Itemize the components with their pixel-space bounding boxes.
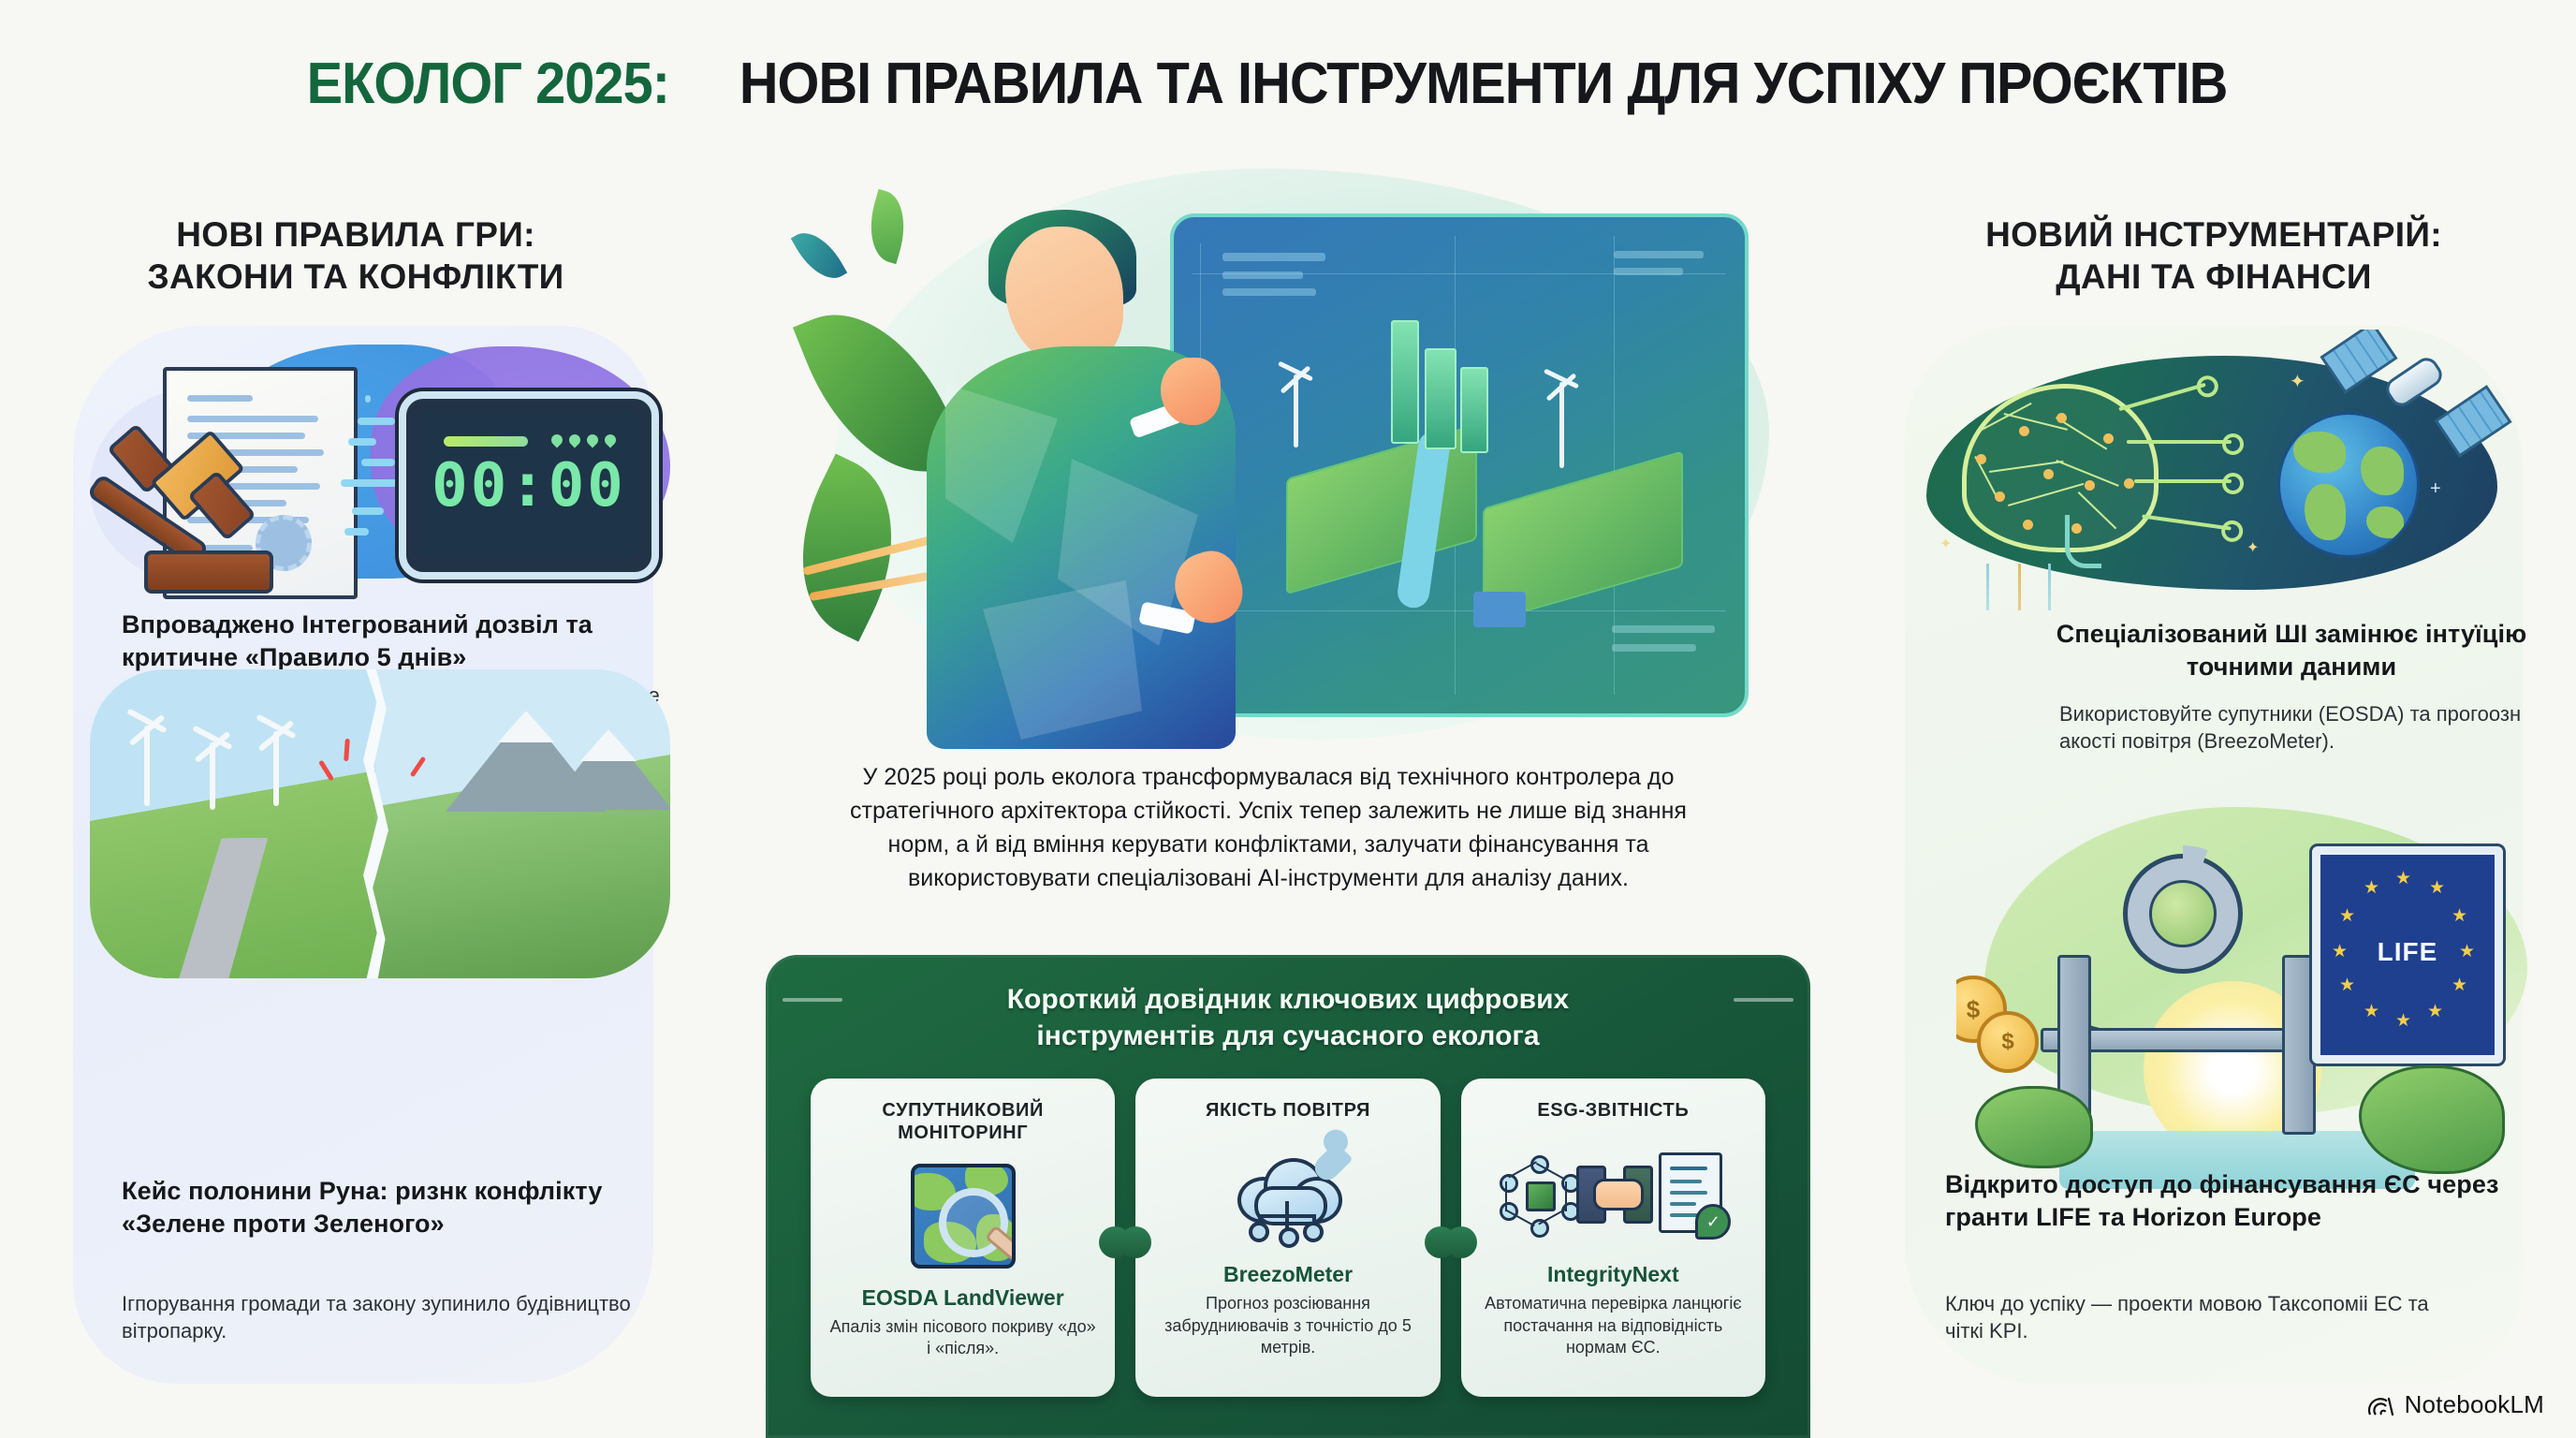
molecule-network-icon <box>1503 1159 1571 1226</box>
heart-icon <box>1319 1142 1354 1177</box>
downlink-line-2 <box>2018 564 2021 610</box>
gear-globe-core <box>2149 880 2217 947</box>
eu-life-flag-icon: ★ ★ ★ ★ ★ ★ ★ ★ ★ ★ ★ ★ LIFE <box>2312 846 2503 1064</box>
card-connector-left-2 <box>1445 1226 1477 1258</box>
star-icon-1: ✦ <box>2290 373 2305 391</box>
left-card-2-title: Кейс полонини Руна: ризнк конфлікту «Зел… <box>122 1175 608 1240</box>
screen-turbine-2 <box>1559 382 1564 468</box>
tool-card-3-kicker: ESG-ЗВІТНІСТЬ <box>1478 1099 1749 1122</box>
tool-card-row: СУПУТНИКОВИЙ МОНІТОРИНГ EOSDA LandViewer… <box>811 1078 1765 1397</box>
tool-card-1-name: EOSDA LandViewer <box>827 1285 1098 1311</box>
tool-card-esg-reporting[interactable]: ESG-ЗВІТНІСТЬ <box>1461 1078 1765 1397</box>
plus-icon: + <box>2430 479 2441 498</box>
eu-star: ★ <box>2429 879 2445 897</box>
wind-farm-landscape-crack-illustration <box>90 669 670 978</box>
cloud-sensor-icon <box>1152 1127 1423 1258</box>
person-hand-upper <box>1161 358 1221 425</box>
timer-indicator-dots <box>551 434 616 446</box>
left-card-2-subtitle: Ігпорування громади та закону зупинило б… <box>122 1290 646 1345</box>
tool-card-3-kicker-line-1: ESG-ЗВІТНІСТЬ <box>1478 1099 1749 1122</box>
circuit-line-2 <box>2127 440 2232 444</box>
supply-chain-handshake-document-icon: ✓ <box>1478 1127 1749 1258</box>
eu-star: ★ <box>2395 870 2411 888</box>
page-title: ЕКОЛОГ 2025: НОВІ ПРАВИЛА ТА ІНСТРУМЕНТИ… <box>0 51 2576 117</box>
left-card-1-title: Впроваджено Інтегрований дозвіл та крити… <box>122 609 665 674</box>
mountain-icon-2 <box>545 729 670 810</box>
handshake-palms <box>1593 1179 1644 1211</box>
star-icon-3: ✦ <box>1939 537 1952 552</box>
tool-card-1-desc: Апаліз змін пісового покриву «до» і «піс… <box>827 1316 1098 1360</box>
tool-card-2-name: BreezoMeter <box>1152 1262 1423 1287</box>
wind-turbine-icon-3 <box>273 731 279 806</box>
eu-star: ★ <box>2452 907 2467 925</box>
timer-value: 00:00 <box>432 451 626 521</box>
right-card-1-subtitle: Використовуйте супутники (EOSDA) та прог… <box>2059 700 2527 756</box>
downlink-line-3 <box>2048 564 2051 610</box>
eu-star: ★ <box>2452 976 2467 994</box>
tool-card-1-kicker: СУПУТНИКОВИЙ МОНІТОРИНГ <box>827 1099 1098 1145</box>
watermark-label: NotebookLM <box>2405 1390 2544 1419</box>
screen-turbine-1 <box>1294 374 1298 448</box>
right-card-1-title: Спеціалізований ШІ замінює інтуїцію точн… <box>2048 618 2535 683</box>
left-heading-line-2: ЗАКОНИ ТА КОНФЛІКТИ <box>56 256 655 298</box>
solar-panel-icon <box>1473 592 1526 627</box>
card-connector-left <box>1120 1226 1151 1258</box>
gavel-base <box>144 550 273 594</box>
tool-card-1-kicker-line-1: СУПУТНИКОВИЙ <box>827 1099 1098 1122</box>
right-card-2-subtitle: Ключ до успіку — проекти мовою Таксопомі… <box>1945 1290 2469 1345</box>
eu-star: ★ <box>2364 1003 2379 1020</box>
cube-node-icon <box>1526 1181 1556 1211</box>
infographic-canvas: ЕКОЛОГ 2025: НОВІ ПРАВИЛА ТА ІНСТРУМЕНТИ… <box>0 0 2576 1438</box>
gear-globe-icon <box>2123 854 2243 974</box>
timer-progress-bar <box>444 436 528 447</box>
bridge-pier-right <box>2282 955 2316 1135</box>
tools-heading-line-2: інструментів для сучасного еколога <box>869 1018 1707 1054</box>
eu-star: ★ <box>2364 879 2379 897</box>
tool-card-3-name: IntegrityNext <box>1478 1262 1749 1287</box>
left-column-heading: НОВІ ПРАВИЛА ГРИ: ЗАКОНИ ТА КОНФЛІКТИ <box>56 213 655 298</box>
eu-star: ★ <box>2395 1012 2411 1030</box>
tools-panel-heading: Короткий довідник ключових цифрових інст… <box>869 981 1707 1054</box>
cloud-shape-icon <box>1232 1152 1344 1233</box>
leaf-icon-4 <box>791 223 847 289</box>
brain-stem <box>2065 515 2101 568</box>
satellite-map-magnifier-icon <box>827 1151 1098 1282</box>
digital-plan-screen <box>1170 213 1749 717</box>
right-column-heading: НОВИЙ ІНСТРУМЕНТАРІЙ: ДАНІ ТА ФІНАНСИ <box>1900 213 2527 298</box>
verified-check-icon: ✓ <box>1695 1204 1731 1240</box>
gavel-document-timer-illustration: 00:00 <box>90 337 670 604</box>
watermark: NotebookLM <box>2367 1390 2544 1419</box>
wind-turbine-icon-2 <box>210 742 215 810</box>
right-heading-line-1: НОВИЙ ІНСТРУМЕНТАРІЙ: <box>1900 213 2527 256</box>
motion-lines-icon <box>341 393 401 552</box>
eu-star: ★ <box>2339 907 2355 925</box>
tool-card-satellite-monitoring[interactable]: СУПУТНИКОВИЙ МОНІТОРИНГ EOSDA LandViewer… <box>811 1078 1115 1397</box>
tool-card-air-quality[interactable]: ЯКІСТЬ ПОВІТРЯ <box>1135 1078 1440 1397</box>
page-title-highlight: ЕКОЛОГ 2025: <box>307 51 669 117</box>
timer-screen: 00:00 <box>419 412 638 559</box>
right-heading-line-2: ДАНІ ТА ФІНАНСИ <box>1900 256 2527 298</box>
compliance-document-icon: ✓ <box>1659 1152 1722 1233</box>
hero-illustration <box>768 159 1807 749</box>
bush-icon-left <box>1975 1086 2093 1168</box>
coin-icon-2: $ <box>1977 1011 2039 1073</box>
countdown-timer-icon: 00:00 <box>399 391 659 580</box>
tool-card-2-kicker-line-1: ЯКІСТЬ ПОВІТРЯ <box>1152 1099 1423 1122</box>
leaf-icon-3 <box>860 189 915 264</box>
wind-turbine-icon <box>144 726 150 806</box>
tool-card-3-desc: Автоматична перевірка ланцюгіє постачанн… <box>1478 1293 1749 1358</box>
downlink-line-1 <box>1986 564 1989 610</box>
circuit-line-3 <box>2134 479 2232 483</box>
life-flag-label: LIFE <box>2320 937 2495 967</box>
notebooklm-logo-icon <box>2367 1393 2395 1417</box>
right-card-2-title: Відкрито доступ до фінансування ЄС через… <box>1945 1168 2507 1234</box>
lead-paragraph: У 2025 році роль еколога трансформувалас… <box>824 760 1713 895</box>
left-heading-line-1: НОВІ ПРАВИЛА ГРИ: <box>56 213 655 256</box>
eu-bridge-life-flag-illustration: ★ ★ ★ ★ ★ ★ ★ ★ ★ ★ ★ ★ LIFE $ $ <box>1956 798 2537 1191</box>
page-title-rest: НОВІ ПРАВИЛА ТА ІНСТРУМЕНТИ ДЛЯ УСПІХУ П… <box>739 51 2227 117</box>
tool-card-2-kicker: ЯКІСТЬ ПОВІТРЯ <box>1152 1099 1423 1122</box>
tool-card-2-desc: Прогноз розсіювання забрудниювачів з точ… <box>1152 1293 1423 1358</box>
ai-brain-satellite-earth-illustration: ✦ ✦ ✦ + <box>1917 330 2535 610</box>
star-icon-2: ✦ <box>2247 541 2259 556</box>
map-tile-icon <box>911 1164 1016 1269</box>
digital-tools-panel: Короткий довідник ключових цифрових інст… <box>766 955 1810 1438</box>
eu-star: ★ <box>2427 1003 2443 1020</box>
tools-heading-line-1: Короткий довідник ключових цифрових <box>869 981 1707 1018</box>
tool-card-1-kicker-line-2: МОНІТОРИНГ <box>827 1122 1098 1144</box>
earth-globe-icon <box>2277 412 2420 558</box>
handshake-icon <box>1576 1164 1653 1222</box>
eu-star: ★ <box>2339 976 2355 994</box>
